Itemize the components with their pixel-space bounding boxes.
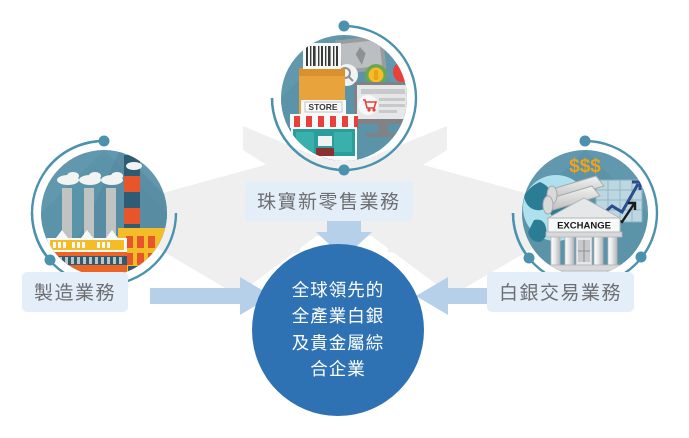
hub-line-4: 合企業 xyxy=(310,361,366,379)
svg-text:STORE: STORE xyxy=(308,102,337,112)
ring-dot-bottom xyxy=(636,252,647,263)
label-manufacturing[interactable]: 製造業務 xyxy=(22,272,128,312)
ring-dot-top xyxy=(339,21,350,32)
hub-line-1: 全球領先的 xyxy=(292,282,385,300)
diagram-canvas: STORE xyxy=(0,0,689,438)
label-jewelry-new-retail[interactable]: 珠寶新零售業務 xyxy=(245,181,413,221)
hub-circle[interactable]: 全球領先的 全產業白銀 及貴金屬綜 合企業 xyxy=(252,244,424,416)
dollar-signs-label: $$$ xyxy=(569,156,601,177)
hub-line-2: 全產業白銀 xyxy=(292,308,385,326)
hub-line-3: 及貴金屬綜 xyxy=(292,335,385,353)
exchange-label: EXCHANGE xyxy=(557,221,611,232)
ring-dot-top xyxy=(580,136,591,147)
label-silver-trading[interactable]: 白銀交易業務 xyxy=(487,272,634,312)
ring-dot-top xyxy=(99,136,110,147)
